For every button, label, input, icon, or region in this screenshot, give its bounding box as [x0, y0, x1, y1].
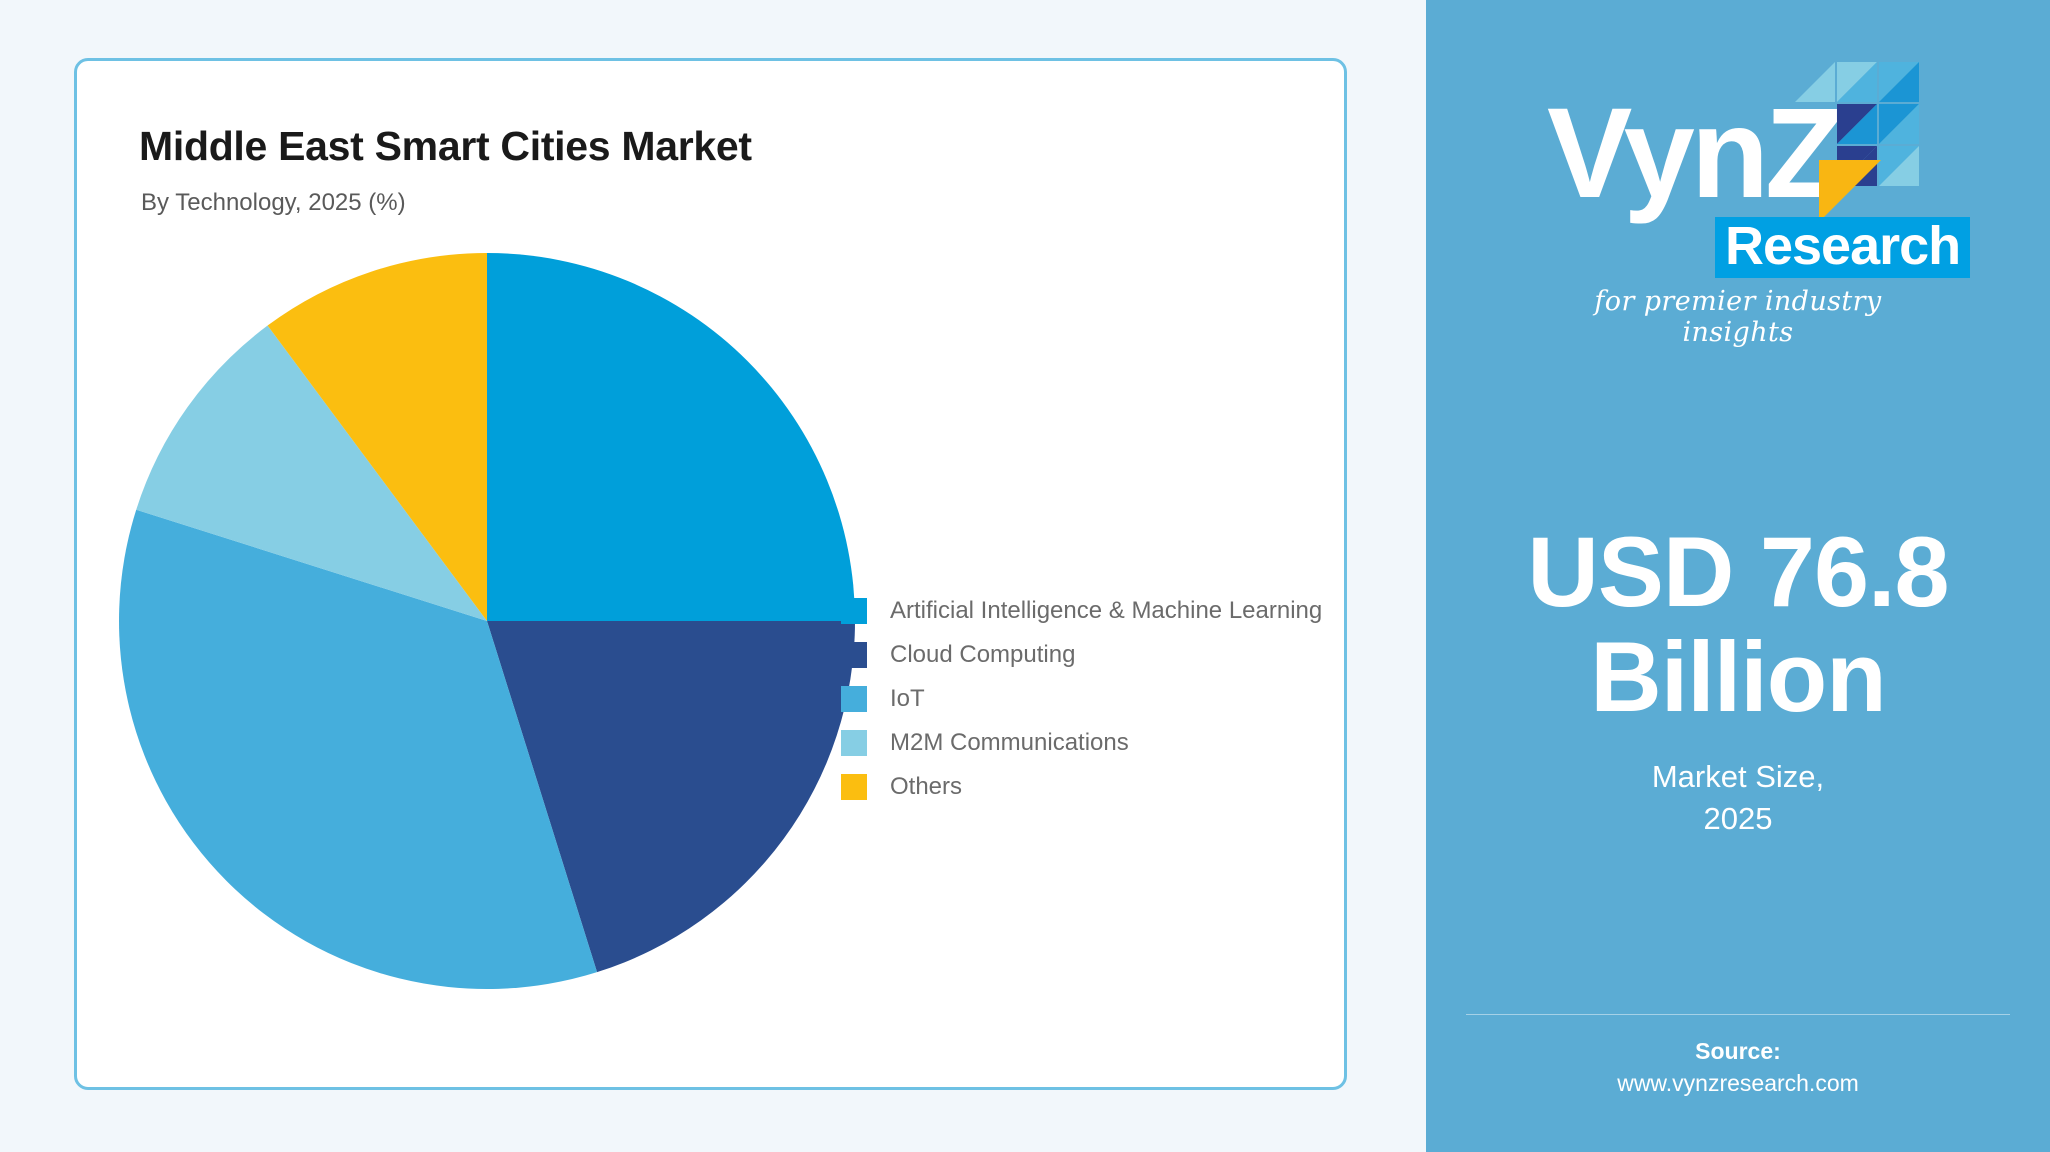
- legend-item-m2m[interactable]: M2M Communications: [841, 731, 1322, 755]
- chart-legend: Artificial Intelligence & Machine Learni…: [841, 599, 1322, 799]
- legend-item-cloud-computing[interactable]: Cloud Computing: [841, 643, 1322, 667]
- plot-area: Artificial Intelligence & Machine Learni…: [77, 61, 1350, 1093]
- logo-tagline: for premier industry insights: [1543, 286, 1933, 348]
- legend-item-iot[interactable]: IoT: [841, 687, 1322, 711]
- legend-swatch-icon: [841, 774, 867, 800]
- stat-value-line-1: USD 76.8: [1426, 520, 2050, 625]
- legend-swatch-icon: [841, 730, 867, 756]
- logo-sub-wordmark-box: Research: [1715, 217, 1970, 278]
- legend-swatch-icon: [841, 642, 867, 668]
- legend-item-label: Artificial Intelligence & Machine Learni…: [890, 598, 1322, 624]
- infographic-page: Middle East Smart Cities Market By Techn…: [0, 0, 2050, 1152]
- legend-item-ai[interactable]: Artificial Intelligence & Machine Learni…: [841, 599, 1322, 623]
- logo-z-accent-icon: [1819, 160, 1881, 222]
- source-block: Source: www.vynzresearch.com: [1426, 1036, 2050, 1099]
- legend-item-label: IoT: [890, 686, 925, 712]
- pie-slice[interactable]: [487, 253, 855, 621]
- pie-chart: [117, 251, 857, 991]
- brand-panel: VynZ Research for premier industry insig…: [1426, 0, 2050, 1152]
- logo-sub-wordmark: Research: [1725, 219, 1960, 274]
- stat-value-line-2: Billion: [1426, 625, 2050, 730]
- legend-item-label: M2M Communications: [890, 730, 1129, 756]
- legend-item-label: Cloud Computing: [890, 642, 1075, 668]
- source-url[interactable]: www.vynzresearch.com: [1426, 1068, 2050, 1100]
- legend-item-label: Others: [890, 774, 962, 800]
- chart-card: Middle East Smart Cities Market By Techn…: [74, 58, 1347, 1090]
- vynz-research-logo: VynZ Research for premier industry insig…: [1426, 62, 2050, 332]
- source-divider: [1466, 1014, 2010, 1015]
- stat-caption-line-2: 2025: [1426, 798, 2050, 840]
- source-label: Source:: [1426, 1036, 2050, 1068]
- legend-swatch-icon: [841, 686, 867, 712]
- market-size-stat: USD 76.8 Billion Market Size, 2025: [1426, 520, 2050, 840]
- legend-swatch-icon: [841, 598, 867, 624]
- legend-item-others[interactable]: Others: [841, 775, 1322, 799]
- stat-caption-line-1: Market Size,: [1426, 756, 2050, 798]
- logo-wordmark: VynZ: [1547, 90, 1839, 218]
